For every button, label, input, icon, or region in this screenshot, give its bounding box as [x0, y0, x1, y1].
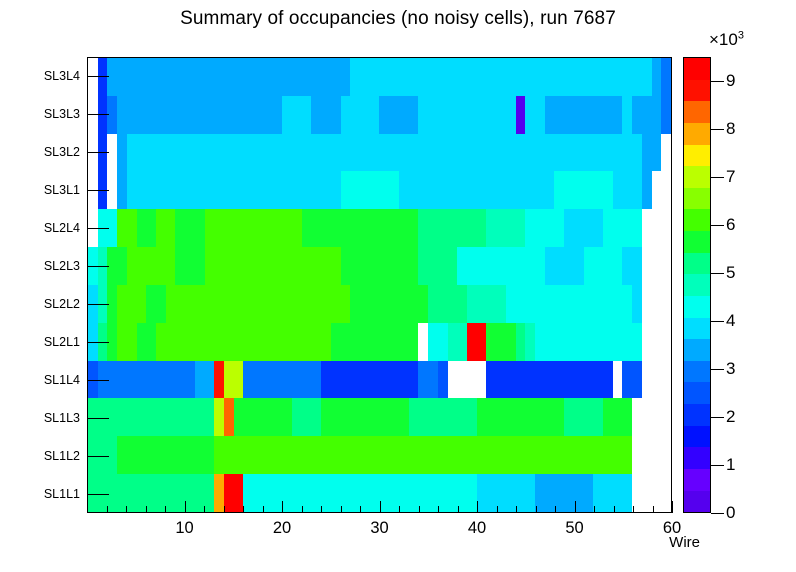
- heatmap-cell: [166, 285, 176, 323]
- heatmap-cell: [525, 323, 535, 361]
- heatmap-cell: [117, 58, 127, 96]
- y-axis-tick-label: SL2L2: [8, 298, 80, 311]
- heatmap-cell: [360, 247, 370, 285]
- heatmap-cell: [331, 285, 341, 323]
- heatmap-cell: [263, 171, 273, 209]
- heatmap-cell: [146, 398, 156, 436]
- heatmap-cell: [457, 96, 467, 134]
- heatmap-cell: [506, 58, 516, 96]
- heatmap-cell: [243, 134, 253, 172]
- heatmap-cell: [341, 96, 351, 134]
- x-axis-major-tick: [282, 501, 283, 513]
- heatmap-cell: [253, 209, 263, 247]
- heatmap-cell: [622, 247, 632, 285]
- heatmap-cell: [467, 398, 477, 436]
- heatmap-cell: [389, 474, 399, 512]
- heatmap-cell: [195, 361, 205, 399]
- heatmap-cell: [234, 285, 244, 323]
- heatmap-cell: [311, 134, 321, 172]
- heatmap-cell: [321, 209, 331, 247]
- heatmap-cell: [205, 436, 215, 474]
- heatmap-cell: [185, 58, 195, 96]
- heatmap-cell: [273, 171, 283, 209]
- heatmap-cell: [224, 96, 234, 134]
- colorbar-tick-label: 7: [726, 168, 735, 185]
- heatmap-cell: [428, 398, 438, 436]
- heatmap-cell: [156, 361, 166, 399]
- heatmap-cell: [467, 474, 477, 512]
- heatmap-cell: [418, 58, 428, 96]
- heatmap-cell: [127, 96, 137, 134]
- heatmap-cell: [438, 171, 448, 209]
- heatmap-cell: [379, 58, 389, 96]
- heatmap-cell: [467, 58, 477, 96]
- heatmap-cell: [224, 247, 234, 285]
- heatmap-cell: [243, 436, 253, 474]
- colorbar-band: [684, 491, 710, 513]
- heatmap-cell: [360, 436, 370, 474]
- heatmap-cell: [516, 436, 526, 474]
- heatmap-cell: [632, 398, 642, 436]
- heatmap-cell: [253, 96, 263, 134]
- heatmap-cell: [321, 58, 331, 96]
- y-axis-tick-label: SL2L4: [8, 222, 80, 235]
- colorbar-band: [684, 166, 710, 188]
- heatmap-cell: [584, 285, 594, 323]
- heatmap-cell: [593, 323, 603, 361]
- x-axis-major-tick: [575, 501, 576, 513]
- heatmap-cell: [399, 361, 409, 399]
- heatmap-cell: [496, 323, 506, 361]
- heatmap-cell: [224, 436, 234, 474]
- heatmap-cell: [642, 209, 652, 247]
- heatmap-cell: [214, 209, 224, 247]
- heatmap-cell: [574, 96, 584, 134]
- heatmap-cell: [175, 323, 185, 361]
- heatmap-cell: [137, 474, 147, 512]
- heatmap-cell: [273, 58, 283, 96]
- heatmap-cell: [166, 436, 176, 474]
- heatmap-cell: [117, 285, 127, 323]
- heatmap-cell: [457, 285, 467, 323]
- heatmap-cell: [409, 323, 419, 361]
- heatmap-cell: [195, 398, 205, 436]
- heatmap-cell: [593, 134, 603, 172]
- heatmap-cell: [554, 247, 564, 285]
- heatmap-cell: [127, 247, 137, 285]
- heatmap-cell: [137, 58, 147, 96]
- heatmap-cell: [117, 247, 127, 285]
- colorbar-tick: [711, 81, 724, 82]
- heatmap-cell: [584, 96, 594, 134]
- heatmap-cell: [341, 323, 351, 361]
- heatmap-cell: [273, 134, 283, 172]
- heatmap-cell: [448, 398, 458, 436]
- heatmap-cell: [516, 171, 526, 209]
- heatmap-cell: [506, 285, 516, 323]
- colorbar-tick: [711, 417, 724, 418]
- heatmap-cell: [409, 96, 419, 134]
- heatmap-cell: [545, 171, 555, 209]
- heatmap-cell: [321, 398, 331, 436]
- heatmap-cell: [185, 285, 195, 323]
- heatmap-cell: [438, 209, 448, 247]
- heatmap-cell: [234, 474, 244, 512]
- heatmap-cell: [506, 171, 516, 209]
- heatmap-cell: [661, 323, 671, 361]
- x-axis-minor-tick: [536, 506, 537, 513]
- heatmap-cell: [448, 96, 458, 134]
- heatmap-cell: [350, 474, 360, 512]
- heatmap-cell: [496, 398, 506, 436]
- heatmap-cell: [642, 361, 652, 399]
- heatmap-cell: [370, 58, 380, 96]
- heatmap-cell: [603, 209, 613, 247]
- heatmap-cell: [477, 436, 487, 474]
- heatmap-cell: [613, 96, 623, 134]
- x-axis-minor-tick: [302, 506, 303, 513]
- heatmap-cell: [632, 134, 642, 172]
- heatmap-cell: [311, 323, 321, 361]
- heatmap-cell: [457, 323, 467, 361]
- x-axis-minor-tick: [224, 506, 225, 513]
- heatmap-cell: [603, 171, 613, 209]
- heatmap-cell: [234, 134, 244, 172]
- heatmap-cell: [214, 361, 224, 399]
- heatmap-cell: [477, 474, 487, 512]
- heatmap-cell: [311, 96, 321, 134]
- heatmap-cell: [234, 171, 244, 209]
- heatmap-cell: [166, 134, 176, 172]
- heatmap-cell: [661, 474, 671, 512]
- heatmap-cell: [243, 323, 253, 361]
- heatmap-cell: [545, 134, 555, 172]
- heatmap-cell: [584, 58, 594, 96]
- heatmap-cell: [214, 247, 224, 285]
- heatmap-cell: [399, 247, 409, 285]
- heatmap-cell: [321, 96, 331, 134]
- x-axis-minor-tick: [633, 506, 634, 513]
- y-axis-tick: [87, 456, 109, 457]
- heatmap-cell: [554, 323, 564, 361]
- heatmap-cell: [205, 171, 215, 209]
- heatmap-cell: [243, 398, 253, 436]
- heatmap-cell: [195, 323, 205, 361]
- heatmap-cell: [389, 398, 399, 436]
- heatmap-cell: [379, 171, 389, 209]
- heatmap-cell: [146, 361, 156, 399]
- heatmap-cell: [428, 247, 438, 285]
- heatmap-cell: [525, 209, 535, 247]
- heatmap-cell: [156, 171, 166, 209]
- colorbar-tick-label: 8: [726, 120, 735, 137]
- x-axis-minor-tick: [107, 506, 108, 513]
- heatmap-cell: [341, 209, 351, 247]
- heatmap-cell: [496, 436, 506, 474]
- heatmap-cell: [302, 285, 312, 323]
- heatmap-cell: [545, 323, 555, 361]
- colorbar-band: [684, 469, 710, 491]
- heatmap-cell: [234, 58, 244, 96]
- heatmap-cell: [156, 58, 166, 96]
- heatmap-cell: [477, 361, 487, 399]
- heatmap-cell: [409, 398, 419, 436]
- heatmap-cell: [486, 474, 496, 512]
- heatmap-cell: [311, 58, 321, 96]
- y-axis-tick: [87, 266, 109, 267]
- y-axis-tick-label: SL3L4: [8, 70, 80, 83]
- heatmap-cell: [214, 436, 224, 474]
- heatmap-cell: [593, 171, 603, 209]
- heatmap-cell: [399, 134, 409, 172]
- heatmap-cell: [477, 323, 487, 361]
- colorbar-tick: [711, 465, 724, 466]
- heatmap-cell: [379, 285, 389, 323]
- x-axis-minor-tick: [263, 506, 264, 513]
- heatmap-cell: [185, 436, 195, 474]
- heatmap-cell: [302, 247, 312, 285]
- heatmap-cell: [622, 398, 632, 436]
- heatmap-cell: [156, 209, 166, 247]
- heatmap-cell: [205, 58, 215, 96]
- heatmap-cell: [137, 134, 147, 172]
- heatmap-cell: [516, 361, 526, 399]
- colorbar-tick-label: 3: [726, 360, 735, 377]
- heatmap-cell: [243, 58, 253, 96]
- heatmap-cell: [175, 171, 185, 209]
- heatmap-cell: [554, 361, 564, 399]
- heatmap-cell: [438, 474, 448, 512]
- heatmap-cell: [137, 361, 147, 399]
- heatmap-cell: [205, 96, 215, 134]
- heatmap-cell: [263, 285, 273, 323]
- heatmap-cell: [282, 361, 292, 399]
- heatmap-cell: [292, 361, 302, 399]
- heatmap-cell: [292, 398, 302, 436]
- heatmap-cell: [418, 398, 428, 436]
- heatmap-cell: [175, 361, 185, 399]
- y-axis-tick-label: SL3L1: [8, 184, 80, 197]
- heatmap-cell: [428, 58, 438, 96]
- heatmap-cell: [263, 96, 273, 134]
- y-axis-tick-label: SL2L3: [8, 260, 80, 273]
- heatmap-cell: [545, 96, 555, 134]
- heatmap-cell: [477, 96, 487, 134]
- colorbar-band: [684, 145, 710, 167]
- heatmap-cell: [516, 247, 526, 285]
- heatmap-cell: [350, 96, 360, 134]
- heatmap-cell: [642, 58, 652, 96]
- heatmap-cell: [574, 134, 584, 172]
- heatmap-cell: [341, 247, 351, 285]
- heatmap-cell: [321, 134, 331, 172]
- heatmap-cell: [127, 398, 137, 436]
- heatmap-cell: [564, 436, 574, 474]
- heatmap-cell: [292, 285, 302, 323]
- heatmap-cell: [438, 398, 448, 436]
- x-axis-minor-tick: [614, 506, 615, 513]
- colorbar-tick-label: 1: [726, 456, 735, 473]
- heatmap-cell: [516, 58, 526, 96]
- heatmap-cell: [428, 474, 438, 512]
- heatmap-cell: [331, 361, 341, 399]
- heatmap-cell: [341, 58, 351, 96]
- x-axis-minor-tick: [438, 506, 439, 513]
- heatmap-cell: [622, 96, 632, 134]
- heatmap-cell: [137, 436, 147, 474]
- heatmap-cell: [341, 285, 351, 323]
- heatmap-cell: [613, 58, 623, 96]
- root-canvas: Summary of occupancies (no noisy cells),…: [0, 0, 796, 572]
- heatmap-cell: [185, 209, 195, 247]
- colorbar-band: [684, 361, 710, 383]
- page-title: Summary of occupancies (no noisy cells),…: [0, 8, 796, 30]
- colorbar-tick: [711, 177, 724, 178]
- heatmap-cell: [166, 58, 176, 96]
- heatmap-cell: [302, 134, 312, 172]
- heatmap-cell: [205, 209, 215, 247]
- heatmap-cell: [564, 398, 574, 436]
- heatmap-cell: [506, 361, 516, 399]
- heatmap-cell: [243, 474, 253, 512]
- heatmap-cell: [224, 134, 234, 172]
- heatmap-cell: [632, 323, 642, 361]
- heatmap-cell: [282, 96, 292, 134]
- heatmap-cell: [185, 134, 195, 172]
- heatmap-cell: [253, 58, 263, 96]
- heatmap-cell: [428, 134, 438, 172]
- x-axis-minor-tick: [458, 506, 459, 513]
- heatmap-cell: [253, 436, 263, 474]
- heatmap-cell: [661, 285, 671, 323]
- x-axis-minor-tick: [497, 506, 498, 513]
- heatmap-cell: [360, 58, 370, 96]
- colorbar-tick: [711, 129, 724, 130]
- heatmap-cell: [350, 171, 360, 209]
- heatmap-cell: [127, 474, 137, 512]
- heatmap-cell: [166, 209, 176, 247]
- heatmap-cell: [331, 134, 341, 172]
- heatmap-cell: [564, 474, 574, 512]
- heatmap-cell: [457, 247, 467, 285]
- heatmap-cell: [350, 247, 360, 285]
- heatmap-cell: [311, 361, 321, 399]
- heatmap-cell: [117, 436, 127, 474]
- heatmap-cell: [273, 96, 283, 134]
- heatmap-cell: [496, 247, 506, 285]
- heatmap-cell: [622, 171, 632, 209]
- heatmap-cell: [321, 171, 331, 209]
- heatmap-cell: [428, 285, 438, 323]
- heatmap-cell: [137, 247, 147, 285]
- heatmap-cell: [525, 171, 535, 209]
- heatmap-cell: [632, 209, 642, 247]
- heatmap-cell: [399, 96, 409, 134]
- heatmap-cell: [428, 171, 438, 209]
- x-axis-tick-label: 10: [165, 519, 205, 538]
- heatmap-cell: [409, 285, 419, 323]
- colorbar-band: [684, 209, 710, 231]
- heatmap-cell: [224, 171, 234, 209]
- heatmap-cell: [331, 247, 341, 285]
- heatmap-cell: [642, 436, 652, 474]
- heatmap-cell: [613, 171, 623, 209]
- heatmap-cell: [234, 209, 244, 247]
- heatmap-cell: [438, 285, 448, 323]
- heatmap-cell: [185, 96, 195, 134]
- heatmap-cell: [302, 96, 312, 134]
- heatmap-cell: [535, 209, 545, 247]
- heatmap-cell: [642, 323, 652, 361]
- heatmap-cell: [350, 398, 360, 436]
- heatmap-cell: [253, 134, 263, 172]
- heatmap-cell: [632, 361, 642, 399]
- heatmap-cell: [321, 247, 331, 285]
- heatmap-cell: [127, 285, 137, 323]
- heatmap-cell: [535, 134, 545, 172]
- heatmap-cell: [273, 209, 283, 247]
- heatmap-cell: [399, 171, 409, 209]
- heatmap-cell: [137, 96, 147, 134]
- y-axis-tick: [87, 418, 109, 419]
- heatmap-cell: [195, 209, 205, 247]
- heatmap-cell: [166, 96, 176, 134]
- heatmap-cell: [438, 134, 448, 172]
- heatmap-cell: [564, 209, 574, 247]
- heatmap-cell: [622, 58, 632, 96]
- heatmap-cell: [661, 436, 671, 474]
- heatmap-cell: [185, 361, 195, 399]
- heatmap-cell: [389, 285, 399, 323]
- heatmap-cell: [593, 209, 603, 247]
- heatmap-cell: [642, 96, 652, 134]
- heatmap-cell: [321, 436, 331, 474]
- heatmap-cell: [331, 398, 341, 436]
- heatmap-cell: [613, 398, 623, 436]
- heatmap-cell: [554, 398, 564, 436]
- heatmap-cell: [156, 436, 166, 474]
- heatmap-cell: [428, 209, 438, 247]
- heatmap-cell: [574, 209, 584, 247]
- heatmap-cell: [146, 247, 156, 285]
- heatmap-cell: [263, 398, 273, 436]
- heatmap-cell: [496, 285, 506, 323]
- heatmap-cell: [253, 323, 263, 361]
- heatmap-cell: [457, 398, 467, 436]
- heatmap-cell: [613, 247, 623, 285]
- heatmap-cell: [379, 96, 389, 134]
- heatmap-cell: [632, 247, 642, 285]
- heatmap-cell: [370, 285, 380, 323]
- heatmap-cell: [292, 436, 302, 474]
- heatmap-cell: [282, 209, 292, 247]
- heatmap-cell: [506, 96, 516, 134]
- heatmap-cell: [146, 474, 156, 512]
- x-axis-minor-tick: [399, 506, 400, 513]
- heatmap-cell: [564, 58, 574, 96]
- heatmap-cell: [457, 134, 467, 172]
- colorbar-band: [684, 318, 710, 340]
- heatmap-cell: [146, 58, 156, 96]
- heatmap-cell: [185, 474, 195, 512]
- heatmap-cell: [554, 285, 564, 323]
- heatmap-cell: [253, 361, 263, 399]
- heatmap-cell: [205, 323, 215, 361]
- heatmap-cell: [292, 247, 302, 285]
- colorbar-tick: [711, 225, 724, 226]
- heatmap-cell: [564, 323, 574, 361]
- heatmap-cell: [535, 247, 545, 285]
